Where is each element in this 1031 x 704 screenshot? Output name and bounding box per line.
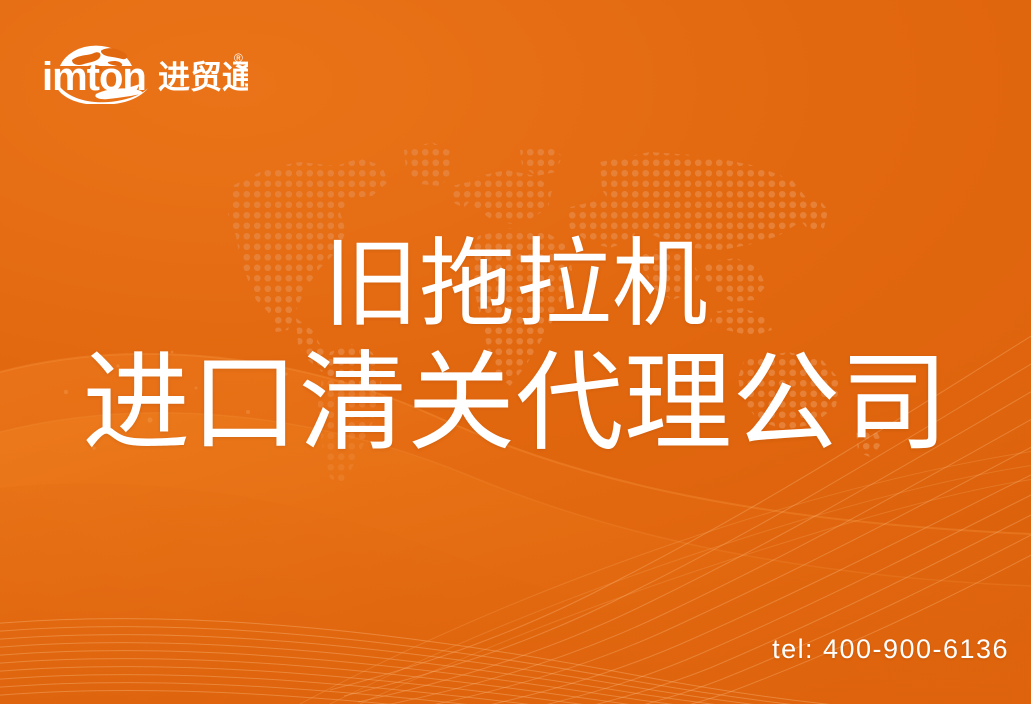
logo-latin-text: imton: [42, 55, 146, 99]
promo-banner: imton 进贸通 ® 旧拖拉机 进口清关代理公司 tel: 400-900-6…: [0, 0, 1031, 704]
contact-phone[interactable]: tel: 400-900-6136: [772, 634, 1009, 665]
brand-logo[interactable]: imton 进贸通 ®: [38, 26, 248, 104]
logo-svg: imton 进贸通 ®: [38, 26, 248, 104]
headline-line-1: 旧拖拉机: [0, 232, 1031, 338]
registered-mark-icon: ®: [234, 51, 243, 65]
page-title: 旧拖拉机 进口清关代理公司: [0, 232, 1031, 462]
headline-line-2: 进口清关代理公司: [0, 344, 1031, 463]
